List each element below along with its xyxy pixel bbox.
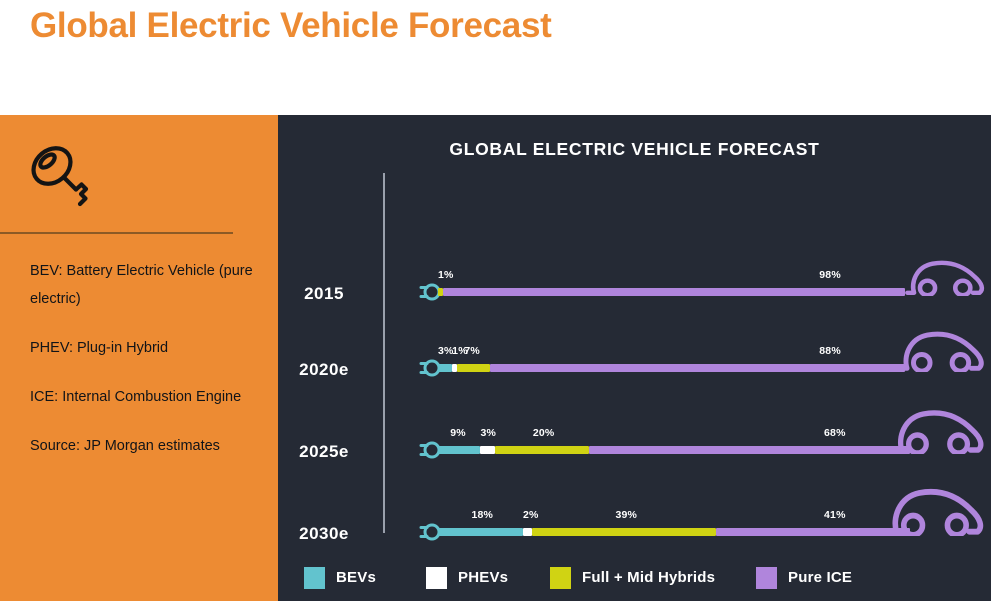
bar-segment-pure-ice [716,528,910,536]
legend-label: Pure ICE [788,569,852,586]
bar-segment-bevs [438,528,523,536]
note-source: Source: JP Morgan estimates [30,432,260,460]
row-year-label: 2015 [278,284,370,304]
bar-segment-pure-ice [443,288,906,296]
chart-panel: GLOBAL ELECTRIC VEHICLE FORECAST 20151%9… [278,115,991,601]
note-phev: PHEV: Plug-in Hybrid [30,334,260,362]
row-year-label: 2030e [278,524,370,544]
bar-segment-label: 9% [450,427,466,439]
chart-rows: 20151%98%2020e3%1%7%88%2025e9%3%20%68%20… [278,115,991,535]
legend-label: BEVs [336,569,376,586]
bar-segment-pure-ice [589,446,910,454]
legend-swatch [550,567,571,589]
note-ice: ICE: Internal Combustion Engine [30,383,260,411]
bar-segment-label: 88% [819,345,841,357]
bar-segment-label: 18% [471,509,493,521]
bar-segment-label: 41% [824,509,846,521]
chart-legend: BEVsPHEVsFull + Mid HybridsPure ICE [278,553,991,601]
sidebar: BEV: Battery Electric Vehicle (pure elec… [0,115,278,601]
page-title: Global Electric Vehicle Forecast [30,6,551,46]
legend-label: PHEVs [458,569,508,586]
legend-swatch [426,567,447,589]
bar-segment-label: 20% [533,427,555,439]
slide: Global Electric Vehicle Forecast BEV: Ba… [0,0,991,601]
bar-segment-phevs [480,446,494,454]
legend-swatch [304,567,325,589]
legend-label: Full + Mid Hybrids [582,569,715,586]
bar-segment-phevs [523,528,532,536]
bar-segment-label: 2% [523,509,539,521]
bar-segment-label: 68% [824,427,846,439]
car-icon [890,402,988,454]
note-bev: BEV: Battery Electric Vehicle (pure elec… [30,257,260,313]
bar-segment-label: 7% [464,345,480,357]
car-icon [904,254,988,296]
bar-segment-label: 39% [615,509,637,521]
bar-segment-bevs [438,364,452,372]
car-icon [896,324,988,372]
bar-segment-full-mid-hybrids [457,364,490,372]
bar-segment-label: 3% [480,427,496,439]
bar-segment-label: 98% [819,269,841,281]
bar-segment-pure-ice [490,364,905,372]
chart-row: 2020e3%1%7%88% [278,322,991,412]
legend-swatch [756,567,777,589]
bar-segment-label: 1% [438,269,454,281]
row-year-label: 2020e [278,360,370,380]
bar-segment-full-mid-hybrids [495,446,589,454]
sidebar-divider [0,232,233,234]
car-key-icon [26,140,102,216]
row-track: 3%1%7%88% [418,322,978,412]
sidebar-notes: BEV: Battery Electric Vehicle (pure elec… [30,257,260,460]
bar-segment-bevs [438,446,480,454]
row-year-label: 2025e [278,442,370,462]
bar-segment-full-mid-hybrids [532,528,716,536]
car-icon [884,480,988,536]
